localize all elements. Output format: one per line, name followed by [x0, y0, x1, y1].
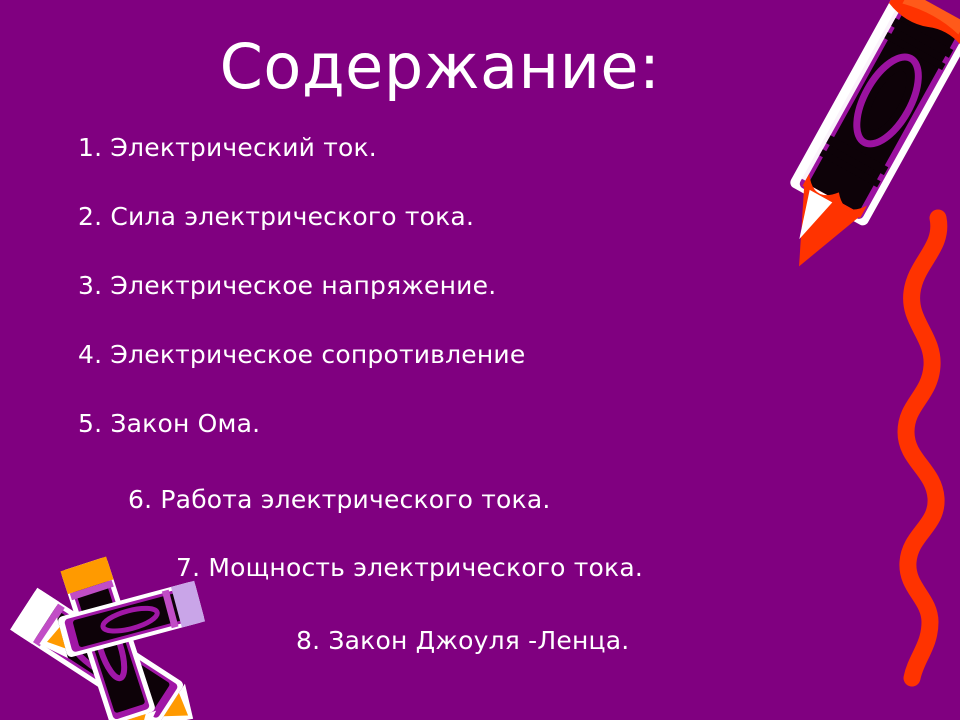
presentation-slide: Содержание: 1. Электрический ток. 2. Сил…: [0, 0, 960, 720]
contents-list: 1. Электрический ток. 2. Сила электричес…: [0, 0, 960, 720]
list-item: 2. Сила электрического тока.: [78, 203, 474, 231]
list-item: 7. Мощность электрического тока.: [176, 554, 643, 582]
list-item: 6. Работа электрического тока.: [128, 486, 551, 514]
list-item: 4. Электрическое сопротивление: [78, 341, 525, 369]
list-item: 8. Закон Джоуля -Ленца.: [296, 627, 629, 655]
list-item: 3. Электрическое напряжение.: [78, 272, 496, 300]
list-item: 1. Электрический ток.: [78, 134, 377, 162]
list-item: 5. Закон Ома.: [78, 410, 260, 438]
